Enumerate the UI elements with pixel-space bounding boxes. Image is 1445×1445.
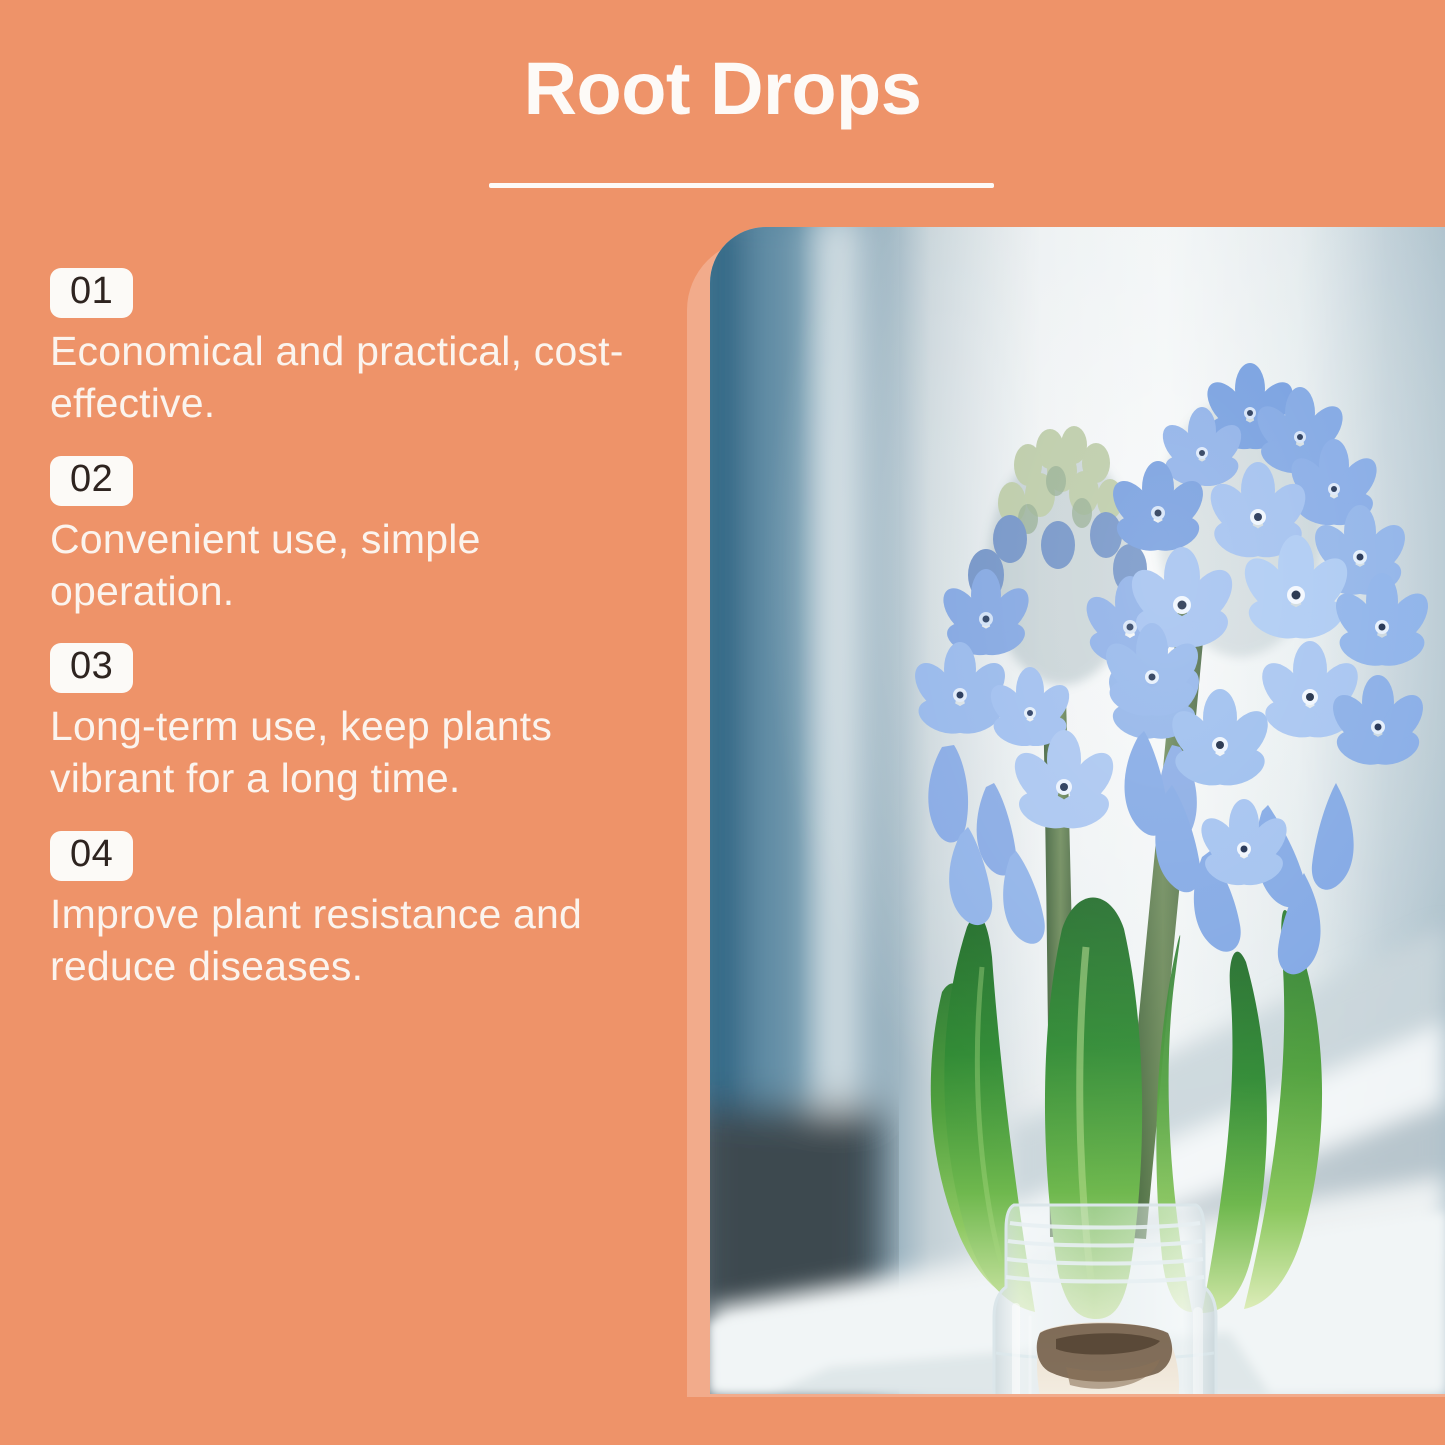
feature-number-badge: 03 — [50, 643, 133, 693]
list-item: 03 Long-term use, keep plants vibrant fo… — [50, 643, 670, 805]
hyacinth-photo-illustration — [710, 227, 1445, 1394]
product-photo — [710, 227, 1445, 1394]
feature-text: Convenient use, simple operation. — [50, 514, 650, 617]
title-divider — [489, 183, 994, 188]
list-item: 01 Economical and practical, cost-effect… — [50, 268, 670, 430]
feature-number-badge: 01 — [50, 268, 133, 318]
list-item: 04 Improve plant resistance and reduce d… — [50, 831, 670, 993]
page-title: Root Drops — [0, 52, 1445, 126]
feature-text: Economical and practical, cost-effective… — [50, 326, 650, 429]
feature-list: 01 Economical and practical, cost-effect… — [50, 268, 670, 1018]
list-item: 02 Convenient use, simple operation. — [50, 456, 670, 618]
feature-text: Improve plant resistance and reduce dise… — [50, 889, 650, 992]
poster-canvas: Root Drops 01 Economical and practical, … — [0, 0, 1445, 1445]
feature-number-badge: 04 — [50, 831, 133, 881]
feature-number-badge: 02 — [50, 456, 133, 506]
feature-text: Long-term use, keep plants vibrant for a… — [50, 701, 650, 804]
